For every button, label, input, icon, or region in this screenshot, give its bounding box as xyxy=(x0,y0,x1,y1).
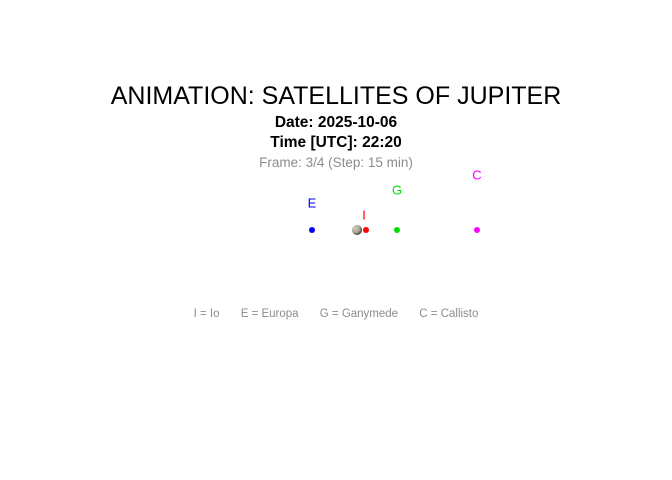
legend-item-europa: E = Europa xyxy=(241,308,299,320)
orbit-plane: E I G C xyxy=(0,0,672,480)
animation-canvas: ANIMATION: SATELLITES OF JUPITER Date: 2… xyxy=(0,0,672,480)
legend-item-io: I = Io xyxy=(194,308,220,320)
legend-item-callisto: C = Callisto xyxy=(419,308,478,320)
moon-label-europa: E xyxy=(308,197,317,210)
moon-marker-ganymede xyxy=(394,227,400,233)
moon-marker-europa xyxy=(309,227,315,233)
moon-label-ganymede: G xyxy=(392,184,402,197)
legend-item-ganymede: G = Ganymede xyxy=(320,308,398,320)
moon-marker-callisto xyxy=(474,227,480,233)
moon-marker-io xyxy=(363,227,369,233)
jupiter-disk xyxy=(352,225,362,235)
legend: I = Io E = Europa G = Ganymede C = Calli… xyxy=(0,307,672,321)
moon-label-callisto: C xyxy=(472,169,481,182)
moon-label-io: I xyxy=(362,209,366,222)
